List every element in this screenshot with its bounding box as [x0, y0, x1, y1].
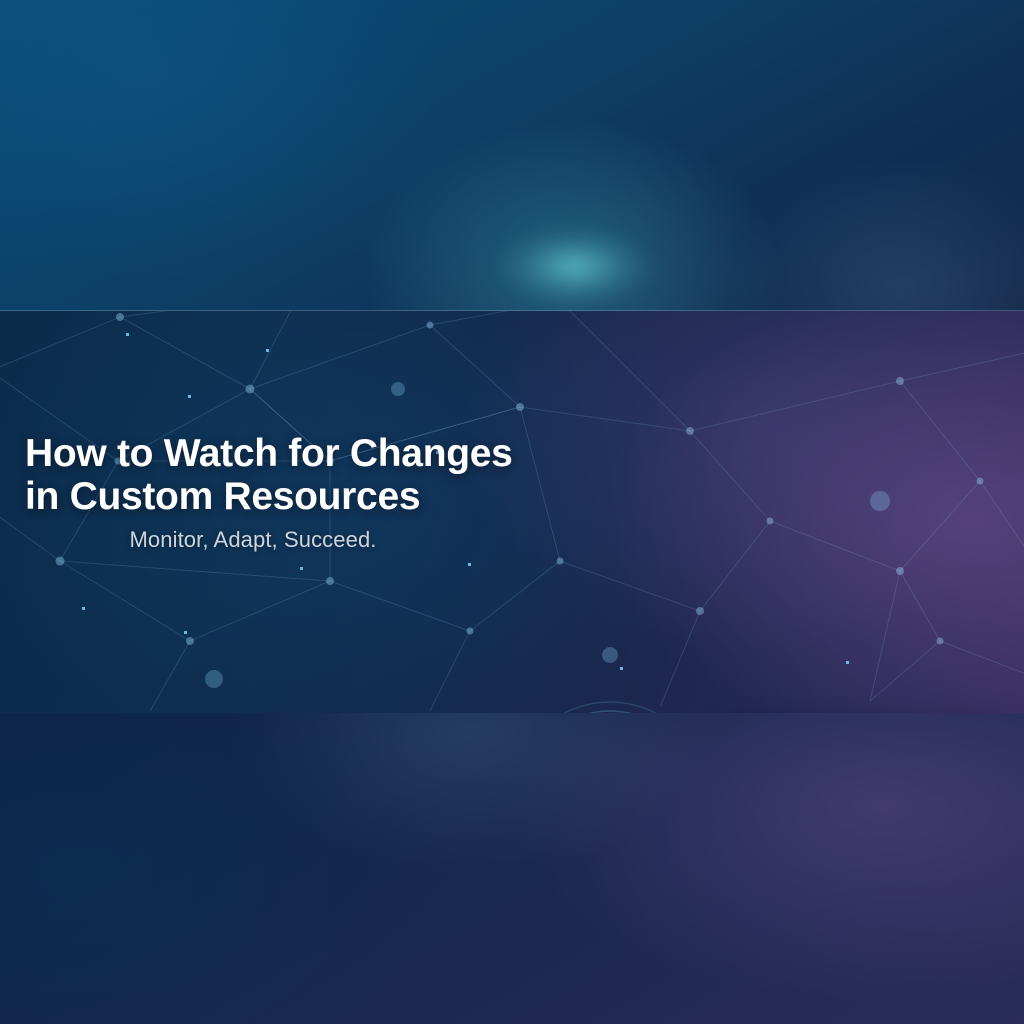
headline-line-2: in Custom Resources: [25, 475, 585, 518]
bottom-background-wash: [0, 712, 1024, 1024]
top-cyan-glow: [470, 214, 680, 318]
subtitle: Monitor, Adapt, Succeed.: [25, 527, 585, 553]
title-block: How to Watch for Changes in Custom Resou…: [25, 432, 585, 553]
hex-badge: [508, 699, 712, 713]
headline-line-1: How to Watch for Changes: [25, 432, 513, 475]
banner-image: – ✕ main watch ▪ 12345678910111213141516…: [0, 0, 1024, 1024]
concentric-rings-graphic: [508, 699, 712, 713]
page-title: How to Watch for Changes in Custom Resou…: [25, 432, 585, 518]
